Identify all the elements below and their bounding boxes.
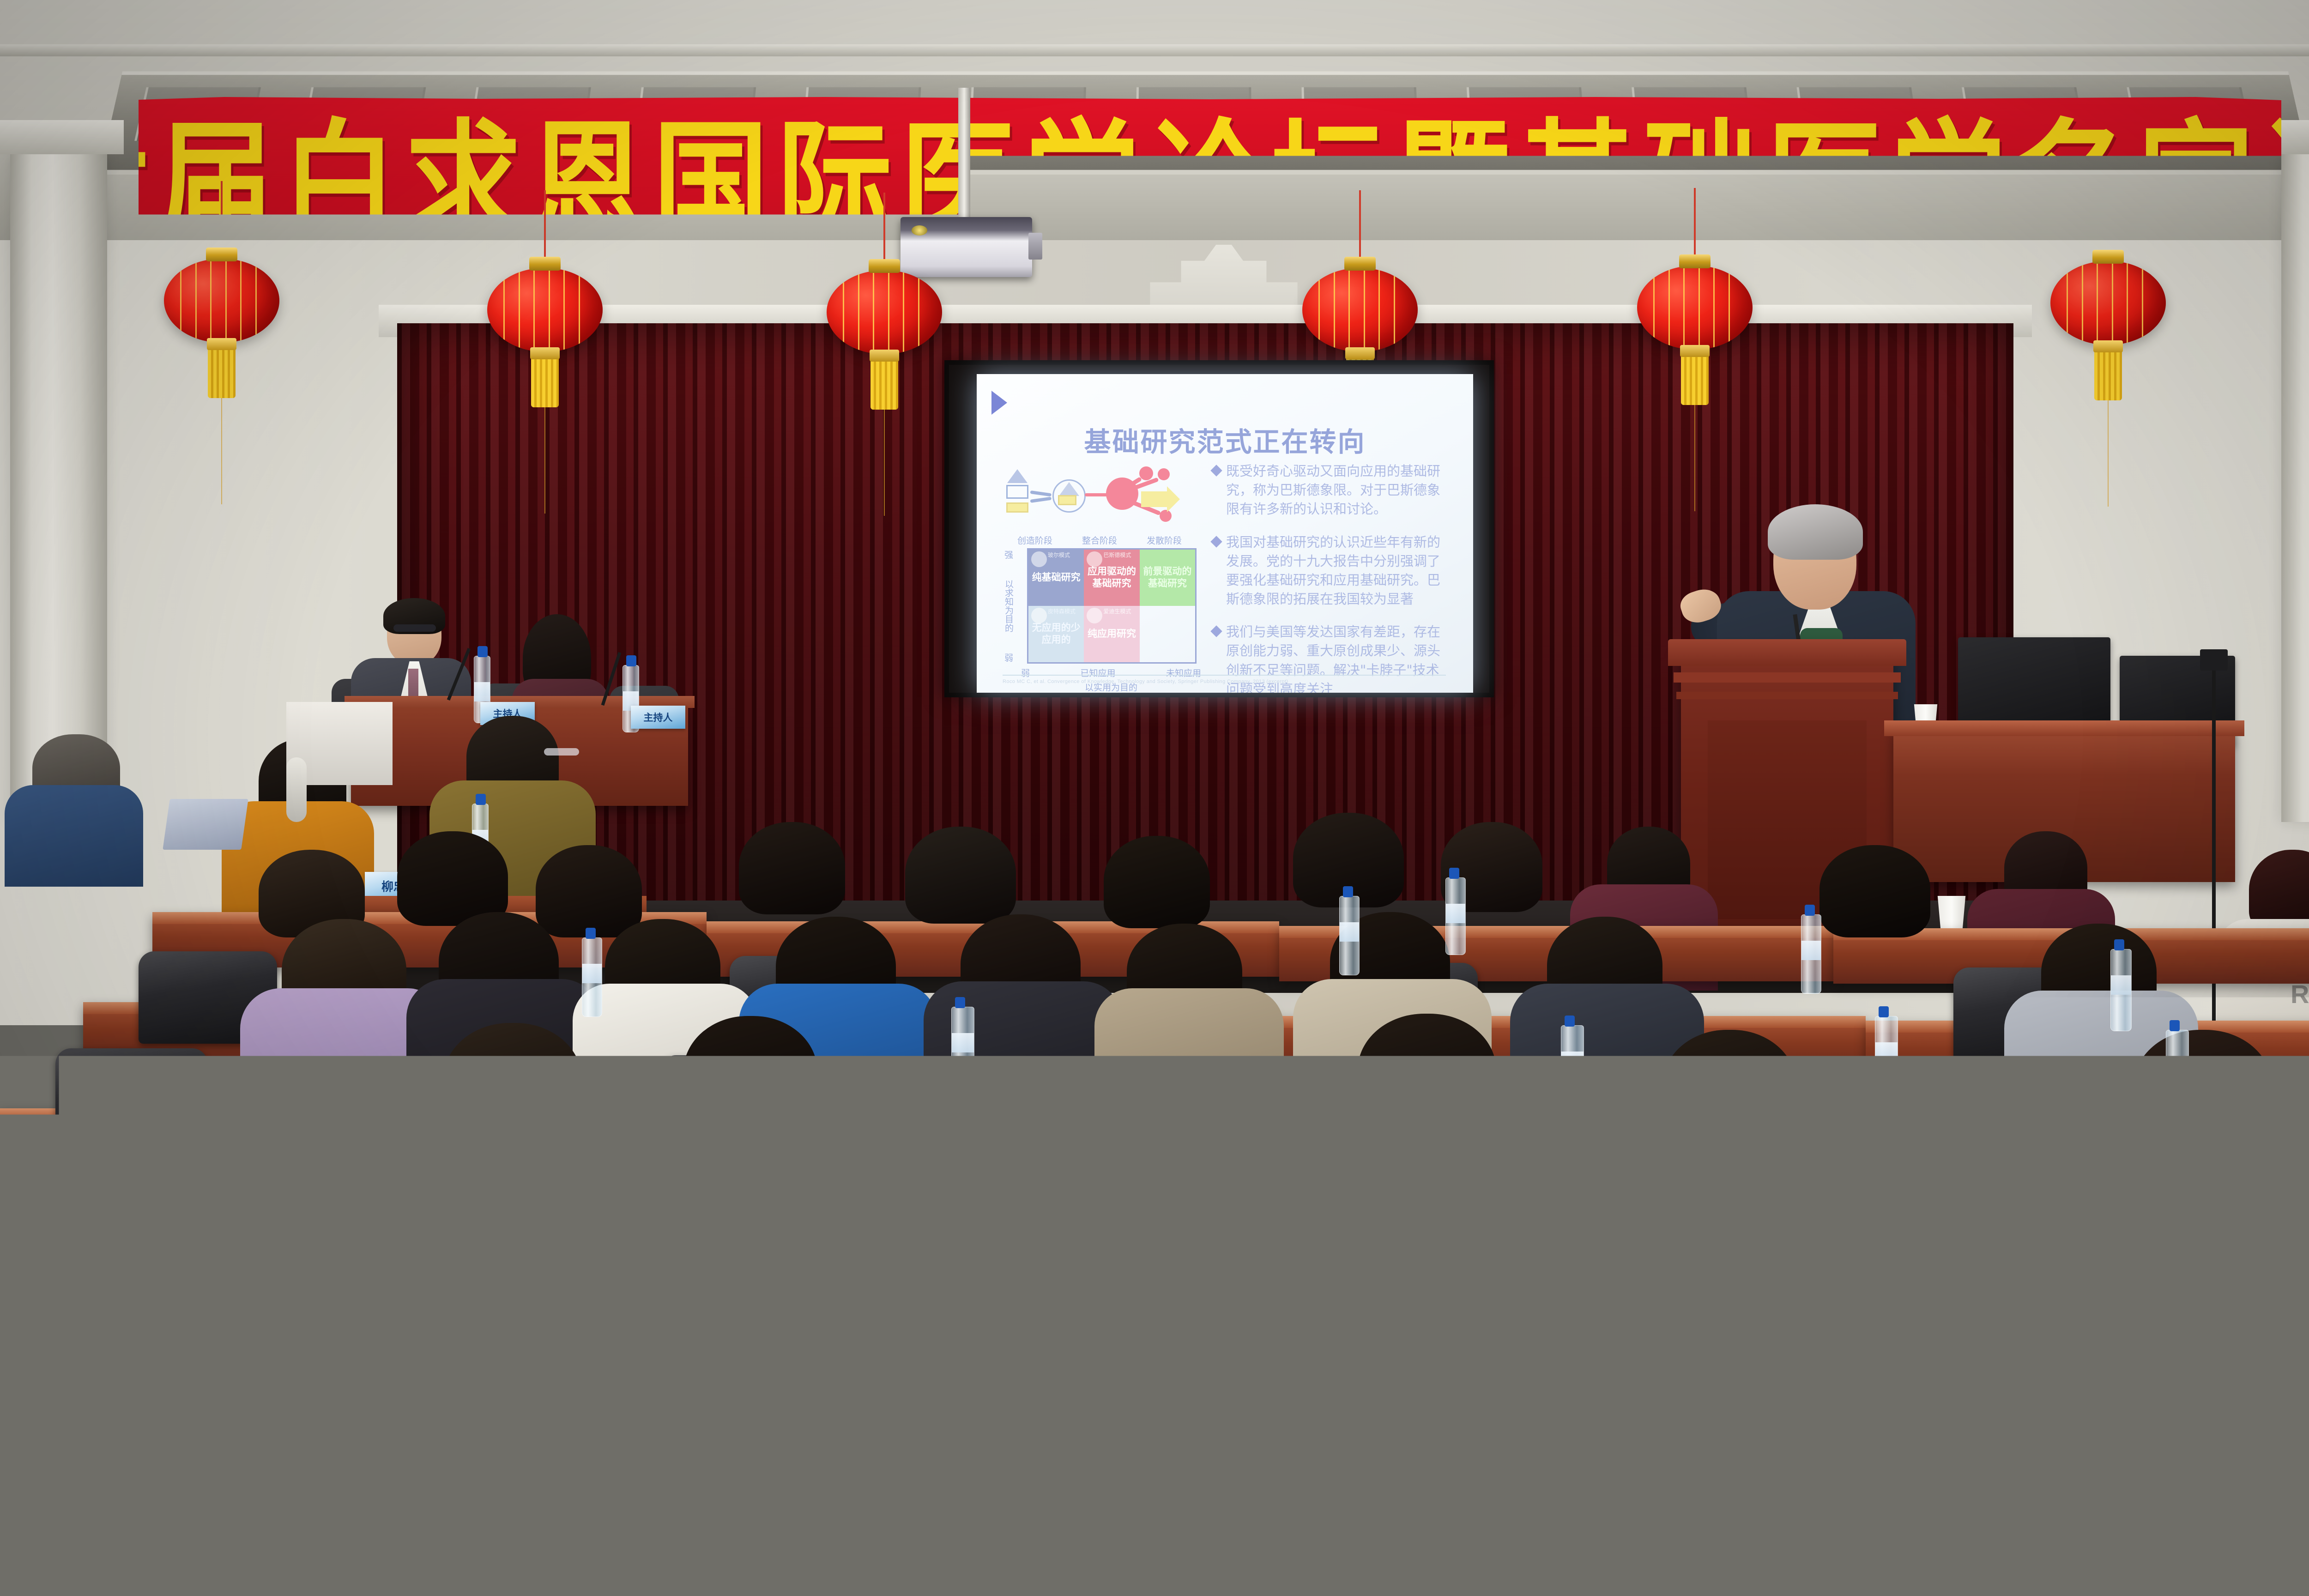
projector-mount [958, 88, 970, 226]
phase-1: 创造阶段 [1017, 534, 1052, 546]
slide-title: 基础研究范式正在转向 [977, 420, 1473, 459]
audience-head [397, 831, 508, 926]
ceiling-beam [0, 44, 2309, 56]
conference-hall-photo: 第六届白求恩国际医学论坛暨基础医学名家讲座 [0, 0, 2309, 1596]
column-left [10, 152, 107, 822]
name-card-host-2: 主持人 [631, 706, 685, 729]
projection-screen-frame: 基础研究范式正在转向 [944, 360, 1494, 697]
quadrant-cell-4: 皮特森模式 无应用的少应用的 [1028, 606, 1084, 662]
quadrant-mini-1: 玻尔模式 [1048, 552, 1070, 559]
quadrant-cell-5: 爱迪生模式 纯应用研究 [1084, 606, 1139, 662]
audience-head [739, 822, 845, 914]
diamond-bullet-icon [1210, 625, 1222, 637]
y-axis-top: 强 [1004, 548, 1013, 561]
quadrant-label-2: 应用驱动的基础研究 [1086, 566, 1137, 589]
jacket-trim [799, 1367, 993, 1399]
water-bottle [2110, 949, 2132, 1031]
audience-body [1616, 1118, 1847, 1277]
water-bottle [951, 1007, 974, 1094]
phase-3: 发散阶段 [1147, 534, 1182, 546]
bullet-text-1: 既受好奇心驱动又面向应用的基础研究，称为巴斯德象限。对于巴斯德象限有许多新的认识… [1226, 462, 1452, 519]
water-bottle [1339, 896, 1360, 975]
water-bottle [457, 1187, 484, 1286]
bullet-text-2: 我国对基础研究的认识近些年有新的发展。党的十九大报告中分别强调了要强化基础研究和… [1226, 533, 1452, 609]
quadrant-label-5: 纯应用研究 [1088, 628, 1136, 640]
portrait-icon [1031, 551, 1047, 567]
diamond-bullet-icon [1210, 536, 1222, 547]
quadrant-matrix: 玻尔模式 纯基础研究 巴斯德模式 应用驱动的基础研究 前景驱动的基础研究 [1027, 548, 1197, 664]
laptop[interactable] [163, 799, 248, 850]
projector [901, 217, 1032, 277]
projected-slide: 基础研究范式正在转向 [977, 374, 1473, 693]
audience-seat [1321, 1381, 1529, 1519]
phase-labels: 创造阶段 整合阶段 发散阶段 [1003, 534, 1197, 546]
funnel-graphic [1003, 466, 1197, 531]
water-bottle [2166, 1030, 2189, 1118]
quadrant-cell-2: 巴斯德模式 应用驱动的基础研究 [1084, 550, 1139, 606]
audience-seat [1930, 1067, 2083, 1168]
slide-footnote: Roco MC C, et al. Convergence of Knowled… [1003, 675, 1446, 684]
water-bottle [1561, 1025, 1584, 1113]
quadrant-cell-1: 玻尔模式 纯基础研究 [1028, 550, 1084, 606]
audience-seat [102, 1395, 300, 1533]
quadrant-mini-4: 皮特森模式 [1048, 608, 1076, 615]
banner-title: 第六届白求恩国际医学论坛暨基础医学名家讲座 [0, 74, 2309, 272]
water-bottle [1801, 914, 1821, 994]
column-right [2281, 152, 2309, 822]
jacket-text-line-2: AGAINST FASH [1529, 1312, 1558, 1473]
quadrant-cell-6 [1140, 606, 1195, 662]
water-bottle [2097, 1182, 2123, 1282]
balustrade [286, 757, 307, 822]
audience-head [1819, 845, 1930, 937]
portrait-icon [1031, 608, 1047, 623]
bullet-item: 我国对基础研究的认识近些年有新的发展。党的十九大报告中分别强调了要强化基础研究和… [1212, 533, 1452, 609]
water-bottle [1875, 1016, 1898, 1104]
quadrant-label-3: 前景驱动的基础研究 [1142, 566, 1193, 589]
audience-body [1094, 988, 1284, 1122]
slide-bullets: 既受好奇心驱动又面向应用的基础研究，称为巴斯德象限。对于巴斯德象限有许多新的认识… [1212, 462, 1452, 693]
portrait-icon [1087, 551, 1102, 567]
audience-seat [55, 1048, 208, 1150]
audience-head [905, 827, 1016, 924]
glasses-icon [544, 748, 579, 756]
audience-body [5, 785, 143, 887]
projector-lens [912, 225, 927, 236]
audience-seat [2060, 1358, 2267, 1496]
control-desk-edge [1884, 720, 2244, 736]
audience-seat [499, 1205, 674, 1321]
water-bottle [1293, 1196, 1320, 1295]
audience-head [1104, 836, 1210, 928]
audience-head [536, 845, 642, 937]
water-bottle [1445, 877, 1466, 955]
quadrant-label-1: 纯基础研究 [1032, 572, 1081, 584]
chevron-icon [991, 391, 1007, 415]
quadrant-mini-5: 爱迪生模式 [1103, 608, 1131, 615]
quadrant-cell-3: 前景驱动的基础研究 [1140, 550, 1195, 606]
y-axis-bottom: 弱 [1004, 651, 1013, 664]
glasses-icon [393, 624, 436, 632]
quadrant-label-4: 无应用的少应用的 [1030, 622, 1082, 646]
phase-2: 整合阶段 [1082, 534, 1117, 546]
water-bottle [582, 937, 602, 1017]
event-banner: 第六届白求恩国际医学论坛暨基础医学名家讲座 [139, 97, 2281, 249]
portrait-icon [1087, 608, 1102, 623]
slide-diagram: 创造阶段 整合阶段 发散阶段 强 以求知为目的 弱 玻尔模式 纯基础研究 [1003, 466, 1197, 693]
y-axis-label: 以求知为目的 [1003, 580, 1015, 632]
diamond-bullet-icon [1210, 465, 1222, 476]
quadrant-mini-2: 巴斯德模式 [1103, 552, 1131, 559]
speaker-hair [1768, 504, 1863, 560]
bullet-item: 既受好奇心驱动又面向应用的基础研究，称为巴斯德象限。对于巴斯德象限有许多新的认识… [1212, 462, 1452, 519]
